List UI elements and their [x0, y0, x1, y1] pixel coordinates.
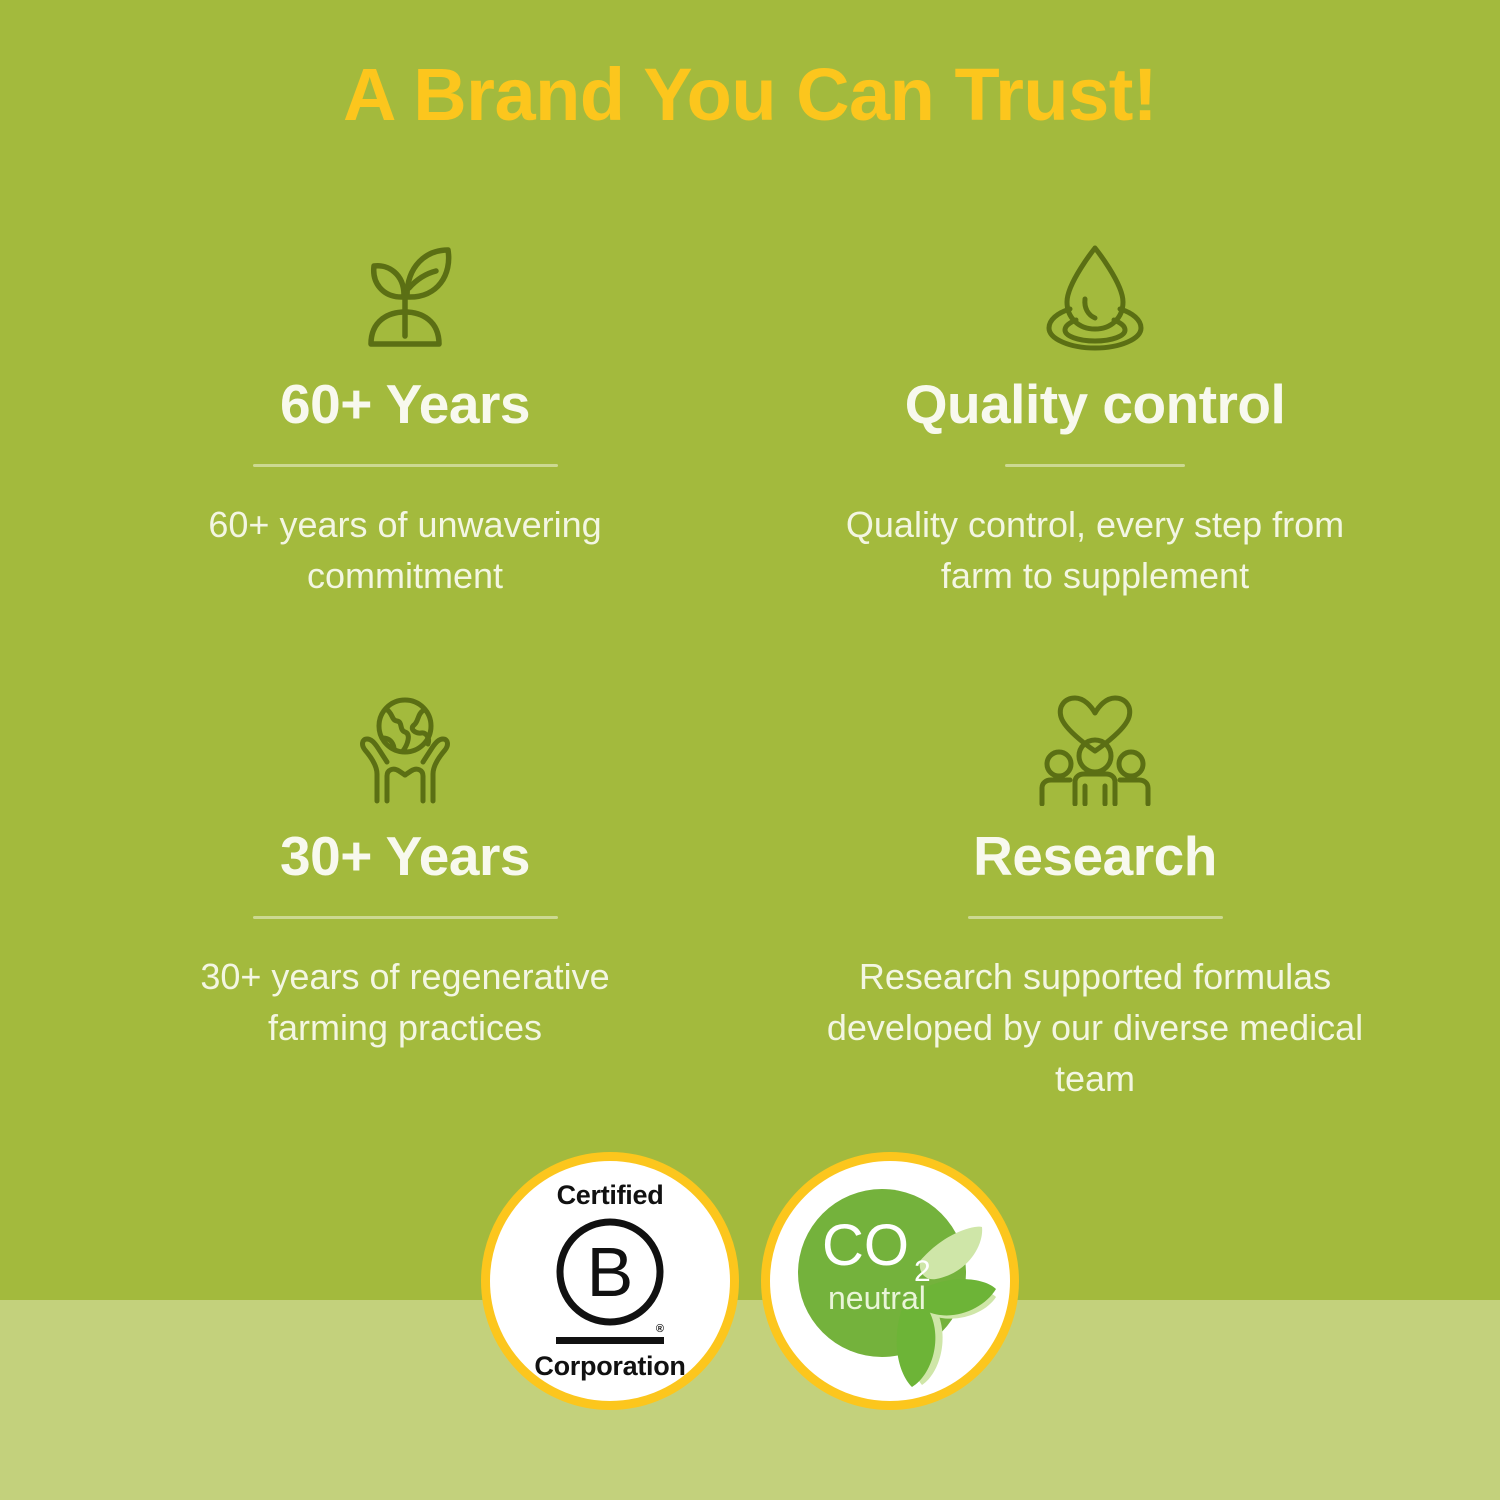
- bcorp-rule: ®: [556, 1337, 664, 1344]
- page-title: A Brand You Can Trust!: [0, 54, 1500, 135]
- feature-title: Research: [973, 828, 1217, 886]
- feature-card-years-60: 60+ Years 60+ years of unwavering commit…: [60, 236, 750, 662]
- water-drop-icon: [1040, 236, 1150, 354]
- bcorp-content: Certified B ® Corporation: [534, 1182, 685, 1380]
- hands-holding-globe-icon: [353, 688, 457, 806]
- family-heart-icon: [1034, 688, 1156, 806]
- feature-grid: 60+ Years 60+ years of unwavering commit…: [60, 236, 1440, 1104]
- feature-title: Quality control: [905, 376, 1286, 434]
- co2-neutral-badge: CO 2 neutral: [761, 1152, 1019, 1410]
- feature-divider: [253, 464, 558, 467]
- bcorp-b-mark: B: [556, 1218, 664, 1330]
- certification-badges: Certified B ® Corporation: [0, 1152, 1500, 1410]
- seedling-icon: [352, 236, 458, 354]
- feature-card-years-30: 30+ Years 30+ years of regenerative farm…: [60, 688, 750, 1104]
- trust-badges-poster: A Brand You Can Trust! 60+ Years 60+ yea…: [0, 0, 1500, 1500]
- feature-body: 60+ years of unwavering commitment: [145, 499, 665, 601]
- feature-divider: [253, 916, 558, 919]
- feature-body: Quality control, every step from farm to…: [805, 499, 1385, 601]
- feature-divider: [1005, 464, 1185, 467]
- registered-trademark-icon: ®: [656, 1324, 664, 1335]
- bcorp-top-label: Certified: [557, 1182, 664, 1209]
- co2-sub-text: neutral: [828, 1280, 926, 1316]
- feature-title: 30+ Years: [280, 828, 530, 886]
- svg-text:B: B: [587, 1233, 634, 1311]
- bcorp-bottom-label: Corporation: [534, 1353, 685, 1380]
- feature-divider: [968, 916, 1223, 919]
- feature-card-research: Research Research supported formulas dev…: [750, 688, 1440, 1104]
- feature-title: 60+ Years: [280, 376, 530, 434]
- feature-body: 30+ years of regenerative farming practi…: [140, 951, 670, 1053]
- co2-content: CO 2 neutral: [770, 1161, 1010, 1401]
- feature-card-quality-control: Quality control Quality control, every s…: [750, 236, 1440, 662]
- co2-main-text: CO: [822, 1213, 909, 1278]
- certified-b-corporation-badge: Certified B ® Corporation: [481, 1152, 739, 1410]
- feature-body: Research supported formulas developed by…: [805, 951, 1385, 1104]
